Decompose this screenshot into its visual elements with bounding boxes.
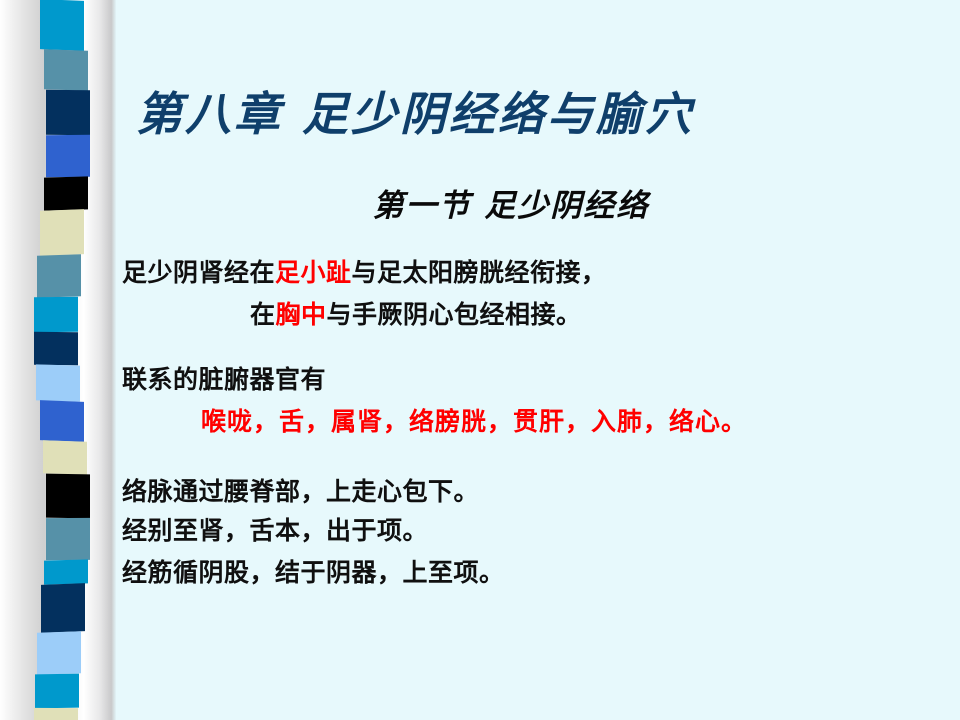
body-line-1-part-b: 与足太阳膀胱经衔接， xyxy=(352,258,607,287)
slide-content: 第八章 足少阴经络与腧穴 第一节 足少阴经络 足少阴肾经在足小趾与足太阳膀胱经衔… xyxy=(116,0,960,720)
decorative-stripe xyxy=(43,440,87,474)
decorative-stripe xyxy=(46,518,90,560)
decorative-stripe xyxy=(37,254,81,297)
slide-title: 第八章 足少阴经络与腧穴 xyxy=(136,78,936,144)
body-line-2-part-b: 与手厥阴心包经相接。 xyxy=(327,300,582,329)
decorative-stripe xyxy=(46,135,90,177)
decorative-stripe xyxy=(34,297,78,333)
decorative-stripe xyxy=(34,708,78,720)
body-line-organs-list: 喉咙，舌，属肾，络膀胱，贯肝，入肺，络心。 xyxy=(201,402,747,438)
decorative-stripe xyxy=(46,90,90,136)
decorative-stripe xyxy=(37,631,81,674)
decorative-stripe xyxy=(44,49,88,90)
body-line-2-part-a: 在 xyxy=(250,300,276,329)
body-line-1-part-a: 足少阴肾经在 xyxy=(122,258,275,287)
body-line-collateral: 络脉通过腰脊部，上走心包下。 xyxy=(122,472,479,508)
decorative-sidebar-band xyxy=(0,0,116,720)
decorative-stripe xyxy=(35,674,79,709)
body-line-organs-label: 联系的脏腑器官有 xyxy=(122,360,326,396)
body-line-2: 在胸中与手厥阴心包经相接。 xyxy=(250,295,582,331)
slide-canvas: 第八章 足少阴经络与腧穴 第一节 足少阴经络 足少阴肾经在足小趾与足太阳膀胱经衔… xyxy=(0,0,960,720)
body-line-divergence: 经别至肾，舌本，出于项。 xyxy=(122,511,428,547)
decorative-stripe xyxy=(44,176,88,210)
slide-subtitle: 第一节 足少阴经络 xyxy=(116,180,906,225)
decorative-stripe xyxy=(40,209,84,256)
body-line-1-highlight: 足小趾 xyxy=(275,258,352,287)
decorative-stripe xyxy=(41,583,85,633)
body-line-sinew: 经筋循阴股，结于阴器，上至项。 xyxy=(122,553,505,589)
decorative-stripe xyxy=(36,364,80,401)
decorative-stripe xyxy=(40,400,84,442)
decorative-stripe-column xyxy=(0,0,116,720)
decorative-stripe xyxy=(34,332,78,365)
body-line-2-highlight: 胸中 xyxy=(276,300,327,329)
decorative-stripe xyxy=(46,474,90,519)
decorative-stripe xyxy=(40,0,84,51)
body-line-1: 足少阴肾经在足小趾与足太阳膀胱经衔接， xyxy=(122,253,607,289)
decorative-stripe xyxy=(44,559,88,584)
decorative-band-clip xyxy=(0,0,116,720)
